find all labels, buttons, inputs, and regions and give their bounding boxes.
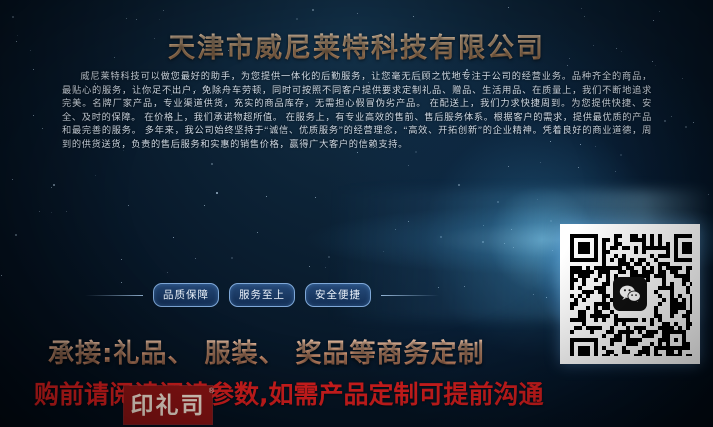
- registered-mark-icon: ®: [209, 388, 214, 395]
- page-title: 天津市威尼莱特科技有限公司: [0, 26, 713, 65]
- promo-headline: 承接:礼品、 服装、 奖品等商务定制: [48, 333, 485, 370]
- brand-stamp-logo: 印礼司 ®: [124, 386, 212, 424]
- badge-quality[interactable]: 品质保障: [153, 283, 219, 307]
- divider-left: [85, 295, 143, 296]
- promo-banner: 天津市威尼莱特科技有限公司 威尼莱特科技可以做您最好的助手，为您提供一体化的后勤…: [0, 0, 713, 427]
- qr-code-image: [568, 232, 692, 356]
- promo-notice: 购前请阅读阅读参数,如需产品定制可提前沟通: [34, 375, 544, 411]
- badge-service[interactable]: 服务至上: [229, 283, 295, 307]
- wechat-icon: [613, 277, 647, 311]
- wechat-qr-code[interactable]: [560, 224, 700, 364]
- divider-right: [381, 295, 439, 296]
- badge-safety[interactable]: 安全便捷: [305, 283, 371, 307]
- feature-badge-row: 品质保障 服务至上 安全便捷: [85, 283, 385, 307]
- brand-stamp-text: 印礼司: [131, 394, 206, 417]
- company-intro-paragraph: 威尼莱特科技可以做您最好的助手，为您提供一体化的后勤服务，让您毫无后顾之忧地专注…: [62, 70, 652, 152]
